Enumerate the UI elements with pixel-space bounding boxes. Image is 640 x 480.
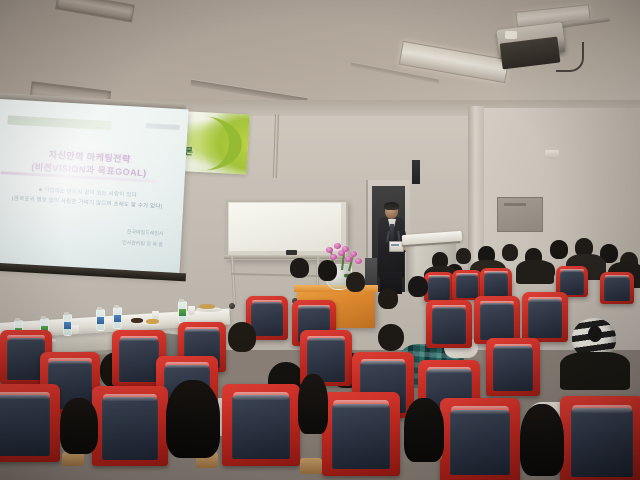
- auditorium-seat[interactable]: [222, 384, 300, 466]
- audience-head: [228, 322, 256, 352]
- seat-highlight: [428, 275, 450, 278]
- audience-head: [378, 288, 398, 309]
- audience-head: [408, 276, 428, 297]
- seat-cushion: [484, 272, 508, 296]
- door-sign: [412, 160, 420, 184]
- seat-highlight: [48, 358, 91, 364]
- auditorium-seat[interactable]: [322, 392, 400, 476]
- seat-highlight: [165, 362, 210, 368]
- audience-head: [298, 374, 328, 434]
- seat-highlight: [427, 367, 472, 373]
- seat-highlight: [456, 273, 478, 276]
- auditorium-seat[interactable]: [522, 292, 568, 342]
- seat-cushion: [493, 346, 533, 391]
- bottle-cap: [114, 305, 119, 308]
- seat-armrest: [300, 458, 322, 474]
- seat-highlight: [361, 359, 406, 365]
- presenter-hair: [384, 202, 399, 210]
- whiteboard-caster: [229, 303, 235, 309]
- seat-highlight: [252, 300, 282, 304]
- water-bottle: [178, 301, 187, 323]
- water-bottle: [96, 309, 105, 331]
- seat-highlight: [484, 271, 507, 274]
- seat-highlight: [560, 269, 583, 272]
- bottle-cap: [179, 299, 184, 302]
- audience-head: [290, 258, 309, 278]
- seat-cushion: [560, 270, 584, 294]
- projector-lens-icon: [505, 31, 517, 39]
- seat-armrest: [62, 452, 84, 466]
- audience-head: [456, 248, 471, 264]
- seat-highlight: [494, 344, 533, 349]
- presenter-badge-text: [391, 244, 399, 246]
- smoke-detector-icon: [545, 150, 559, 159]
- bottle-cap: [64, 312, 69, 315]
- water-bottle: [63, 314, 72, 336]
- projection-screen: 자신만의 마케팅전략 (비젼VISION과 목표GOAL) ■ 기업에는 반드시…: [0, 99, 189, 277]
- wall-panel-label: [504, 203, 526, 206]
- audience-head: [378, 324, 404, 351]
- auditorium-seat[interactable]: [440, 398, 520, 480]
- paper-cup: [105, 319, 112, 328]
- slide-corner-mark: [145, 123, 179, 130]
- seat-cushion: [432, 307, 466, 344]
- orchid-bloom: [355, 258, 362, 264]
- bottle-cap: [97, 307, 102, 310]
- seat-highlight: [233, 392, 289, 399]
- paper-cup: [72, 325, 79, 334]
- snack-item: [199, 304, 215, 309]
- auditorium-seat[interactable]: [0, 384, 60, 462]
- auditorium-seat[interactable]: [480, 268, 512, 299]
- slide-signature-line1: 한국메일드레인사: [127, 228, 164, 237]
- seat-cushion: [251, 302, 282, 336]
- orchid-bloom: [345, 256, 352, 262]
- seat-cushion: [0, 395, 50, 456]
- auditorium-seat[interactable]: [486, 338, 540, 396]
- auditorium-seat[interactable]: [474, 296, 520, 344]
- presenter-necktie: [390, 224, 394, 240]
- auditorium-seat[interactable]: [424, 272, 454, 302]
- seat-highlight: [432, 305, 465, 309]
- projector-cable: [556, 42, 584, 72]
- seat-highlight: [120, 336, 159, 341]
- seat-cushion: [428, 276, 450, 299]
- seat-highlight: [0, 392, 50, 399]
- audience-head: [550, 240, 568, 259]
- auditorium-seat[interactable]: [560, 396, 640, 480]
- orchid-bloom: [334, 243, 341, 249]
- paper-cup: [188, 306, 195, 315]
- seat-cushion: [456, 274, 478, 297]
- audience-head: [166, 380, 220, 458]
- seat-cushion: [604, 276, 629, 301]
- snack-item: [146, 319, 159, 324]
- seat-cushion: [119, 338, 159, 382]
- seat-highlight: [480, 301, 513, 305]
- audience-head: [502, 244, 518, 261]
- seat-cushion: [480, 303, 514, 340]
- seat-highlight: [605, 275, 629, 278]
- audience-shoulders: [516, 260, 554, 284]
- door-ledge: [365, 258, 377, 288]
- audience-head: [346, 272, 365, 292]
- seat-cushion: [450, 410, 509, 476]
- seat-cushion: [528, 299, 562, 338]
- seat-highlight: [528, 297, 561, 302]
- seat-cushion: [232, 395, 290, 459]
- orchid-bloom: [330, 254, 337, 260]
- seat-highlight: [185, 327, 220, 332]
- seat-highlight: [103, 394, 158, 401]
- water-bottle: [113, 307, 122, 329]
- auditorium-seat[interactable]: [426, 300, 472, 348]
- orchid-bloom: [326, 247, 333, 253]
- whiteboard-marker-tray: [224, 255, 346, 259]
- whiteboard-eraser: [286, 250, 297, 255]
- seat-highlight: [572, 405, 632, 413]
- slide-signature-line2: 인사관리팀 정 욱 흠: [122, 239, 163, 248]
- seat-highlight: [7, 335, 44, 340]
- bottle-cap: [15, 318, 20, 321]
- beanie-crown-dot: [588, 326, 602, 342]
- beanie-wearer-shoulders: [560, 352, 630, 390]
- audience-head: [60, 398, 98, 454]
- photo-canvas: 수회 가전략토론 급 친행경직과 자신만의 마케팅전략 (비젼VISION과 목…: [0, 0, 640, 480]
- auditorium-seat[interactable]: [600, 272, 634, 304]
- bottle-cap: [41, 316, 46, 319]
- seat-cushion: [332, 404, 390, 470]
- audience-head: [404, 398, 444, 462]
- audience-head: [520, 404, 564, 476]
- orchid-bloom: [338, 250, 345, 256]
- seat-highlight: [307, 336, 344, 341]
- seat-highlight: [298, 305, 330, 309]
- seat-highlight: [451, 406, 509, 414]
- snack-item: [131, 318, 143, 323]
- audience-head: [318, 260, 337, 281]
- seat-highlight: [333, 400, 389, 408]
- seat-cushion: [571, 408, 633, 477]
- seat-cushion: [102, 397, 158, 459]
- slide-header-bar: [7, 115, 111, 130]
- whiteboard-surface: [229, 203, 341, 251]
- auditorium-seat[interactable]: [92, 386, 168, 466]
